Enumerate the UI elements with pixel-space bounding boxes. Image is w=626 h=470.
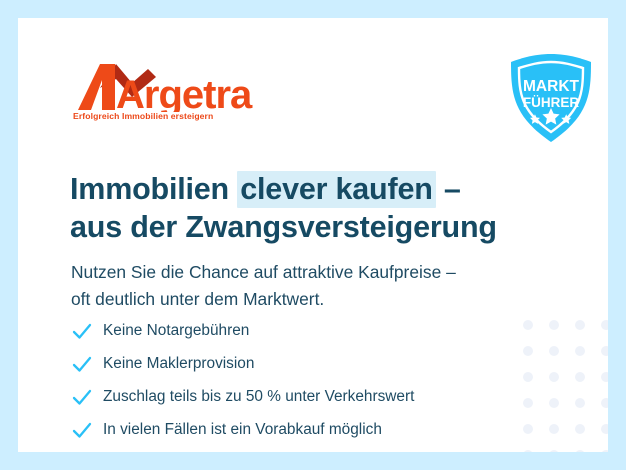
headline-line2: aus der Zwangsversteigerung	[70, 209, 550, 247]
svg-text:Argetra: Argetra	[116, 73, 253, 112]
decorative-dot	[523, 424, 533, 434]
decorative-dot	[549, 450, 559, 452]
list-item: Keine Notargebühren	[71, 316, 511, 346]
subheading-line2: oft deutlich unter dem Marktwert.	[71, 286, 541, 312]
decorative-dot	[575, 346, 585, 356]
shield-badge-icon: MARKT FÜHRER	[505, 50, 597, 146]
decorative-dot	[549, 320, 559, 330]
list-item-label: Keine Maklerprovision	[103, 355, 254, 373]
list-item: Zuschlag teils bis zu 50 % unter Verkehr…	[71, 382, 511, 412]
decorative-dot	[523, 320, 533, 330]
decorative-dot	[575, 450, 585, 452]
dot-pattern-decoration	[523, 320, 608, 452]
badge-line2-text: FÜHRER	[523, 95, 579, 110]
decorative-dot	[601, 346, 608, 356]
banner-card: Argetra Erfolgreich Immobilien ersteiger…	[18, 18, 608, 452]
decorative-dot	[575, 372, 585, 382]
list-item-label: In vielen Fällen ist ein Vorabkauf mögli…	[103, 421, 382, 439]
headline-part2: –	[436, 172, 461, 206]
argetra-logo-mark: Argetra	[72, 62, 272, 112]
check-icon	[71, 320, 93, 342]
decorative-dot	[575, 424, 585, 434]
list-item-label: Zuschlag teils bis zu 50 % unter Verkehr…	[103, 388, 414, 406]
subheading: Nutzen Sie die Chance auf attraktive Kau…	[71, 259, 541, 312]
argetra-logo[interactable]: Argetra Erfolgreich Immobilien ersteiger…	[72, 62, 272, 128]
list-item: In vielen Fällen ist ein Vorabkauf mögli…	[71, 415, 511, 445]
decorative-dot	[549, 424, 559, 434]
subheading-line1: Nutzen Sie die Chance auf attraktive Kau…	[71, 262, 456, 282]
decorative-dot	[549, 346, 559, 356]
check-icon	[71, 353, 93, 375]
decorative-dot	[601, 450, 608, 452]
decorative-dot	[549, 398, 559, 408]
decorative-dot	[575, 320, 585, 330]
list-item-label: Keine Notargebühren	[103, 322, 249, 340]
list-item: Keine Maklerprovision	[71, 349, 511, 379]
decorative-dot	[523, 398, 533, 408]
logo-tagline: Erfolgreich Immobilien ersteigern	[73, 111, 213, 121]
decorative-dot	[601, 424, 608, 434]
promo-banner: Argetra Erfolgreich Immobilien ersteiger…	[0, 0, 626, 470]
headline-part1: Immobilien	[70, 172, 237, 206]
benefits-list: Keine Notargebühren Keine Maklerprovisio…	[71, 316, 511, 448]
decorative-dot	[601, 320, 608, 330]
decorative-dot	[523, 372, 533, 382]
decorative-dot	[523, 450, 533, 452]
decorative-dot	[523, 346, 533, 356]
marktfuehrer-badge: MARKT FÜHRER	[505, 50, 597, 146]
badge-line1-text: MARKT	[523, 78, 579, 95]
decorative-dot	[601, 372, 608, 382]
decorative-dot	[549, 372, 559, 382]
headline-highlight: clever kaufen	[237, 171, 435, 208]
decorative-dot	[601, 398, 608, 408]
check-icon	[71, 419, 93, 441]
check-icon	[71, 386, 93, 408]
decorative-dot	[575, 398, 585, 408]
headline: Immobilien clever kaufen – aus der Zwang…	[70, 171, 550, 247]
